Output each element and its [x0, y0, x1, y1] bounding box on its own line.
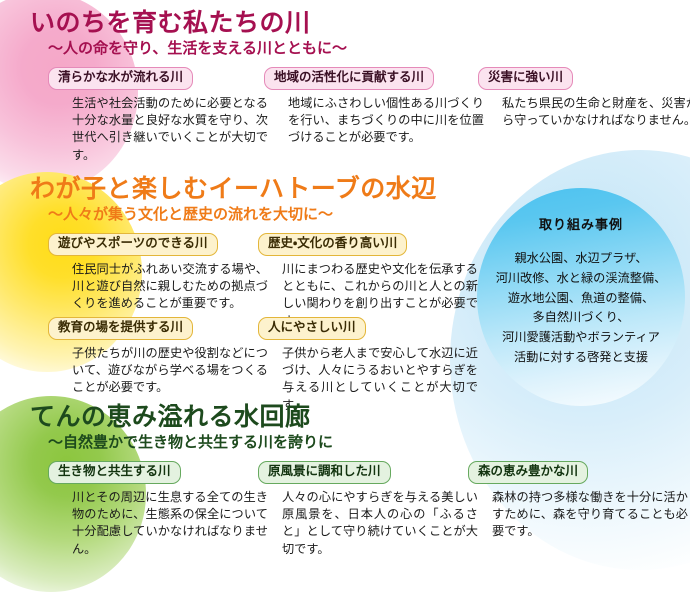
case-studies-line: 多自然川づくり、: [496, 308, 667, 328]
case-studies-line: 河川愛護活動やボランティア: [496, 328, 667, 348]
section-life-subtitle: 〜人の命を守り、生活を支える川とともに〜: [48, 41, 690, 58]
section-life: いのちを育む私たちの川 〜人の命を守り、生活を支える川とともに〜 清らかな水が流…: [0, 10, 690, 167]
case-studies-line: 河川改修、水と緑の渓流整備、: [496, 269, 667, 289]
item-label[interactable]: 原風景に調和した川: [258, 461, 391, 484]
item-label[interactable]: 生き物と共生する川: [48, 461, 181, 484]
case-studies-callout[interactable]: 取り組み事例 親水公園、水辺プラザ、 河川改修、水と緑の渓流整備、 遊水地公園、…: [477, 188, 685, 406]
item-clean-water[interactable]: 清らかな水が流れる川 生活や社会活動のために必要となる十分な水量と良好な水質を守…: [48, 67, 268, 164]
item-description: 生活や社会活動のために必要となる十分な水量と良好な水質を守り、次世代へ引き継いで…: [72, 95, 268, 164]
case-studies-title: 取り組み事例: [539, 214, 623, 233]
item-people-friendly[interactable]: 人にやさしい川 子供から老人まで安心して水辺に近づけ、人々にうるおいとやすらぎを…: [258, 317, 478, 414]
item-label[interactable]: 清らかな水が流れる川: [48, 67, 193, 90]
section-life-items: 清らかな水が流れる川 生活や社会活動のために必要となる十分な水量と良好な水質を守…: [0, 67, 690, 167]
item-description: 森林の持つ多様な働きを十分に活かすために、森を守り育てることも必要です。: [492, 489, 688, 541]
item-description: 私たち県民の生命と財産を、災害から守っていかなければなりません。: [502, 95, 690, 130]
item-harmonized-landscape[interactable]: 原風景に調和した川 人々の心にやすらぎを与える美しい原風景を、日本人の心の「ふる…: [258, 461, 478, 558]
case-studies-line: 遊水地公園、魚道の整備、: [496, 289, 667, 309]
item-forest-blessings[interactable]: 森の恵み豊かな川 森林の持つ多様な働きを十分に活かすために、森を守り育てることも…: [468, 461, 688, 541]
item-coexist-with-life[interactable]: 生き物と共生する川 川とその周辺に生息する全ての生き物のために、生態系の保全につ…: [48, 461, 268, 558]
item-label[interactable]: 地域の活性化に貢献する川: [264, 67, 434, 90]
section-forest-title: てんの恵み溢れる水回廊: [30, 404, 690, 431]
case-studies-list: 親水公園、水辺プラザ、 河川改修、水と緑の渓流整備、 遊水地公園、魚道の整備、 …: [496, 249, 667, 368]
case-studies-line: 親水公園、水辺プラザ、: [496, 249, 667, 269]
item-label[interactable]: 森の恵み豊かな川: [468, 461, 588, 484]
item-disaster-resilient[interactable]: 災害に強い川 私たち県民の生命と財産を、災害から守っていかなければなりません。: [478, 67, 690, 129]
item-description: 人々の心にやすらぎを与える美しい原風景を、日本人の心の「ふるさと」として守り続け…: [282, 489, 478, 558]
item-description: 子供たちが川の歴史や役割などについて、遊びながら学べる場をつくることが必要です。: [72, 345, 268, 397]
item-label[interactable]: 災害に強い川: [478, 67, 573, 90]
item-label[interactable]: 遊びやスポーツのできる川: [48, 233, 218, 256]
item-history-and-culture[interactable]: 歴史・文化の香り高い川 川にまつわる歴史や文化を伝承するとともに、これからの川と…: [258, 233, 478, 330]
item-label[interactable]: 歴史・文化の香り高い川: [258, 233, 407, 256]
section-forest-items: 生き物と共生する川 川とその周辺に生息する全ての生き物のために、生態系の保全につ…: [0, 461, 690, 561]
item-label[interactable]: 教育の場を提供する川: [48, 317, 193, 340]
item-label[interactable]: 人にやさしい川: [258, 317, 366, 340]
section-life-header: いのちを育む私たちの川 〜人の命を守り、生活を支える川とともに〜: [0, 10, 690, 57]
item-education-place[interactable]: 教育の場を提供する川 子供たちが川の歴史や役割などについて、遊びながら学べる場を…: [48, 317, 268, 397]
item-description: 地域にふさわしい個性ある川づくりを行い、まちづくりの中に川を位置づけることが必要…: [288, 95, 484, 147]
section-forest-header: てんの恵み溢れる水回廊 〜自然豊かで生き物と共生する川を誇りに: [0, 404, 690, 451]
section-life-title: いのちを育む私たちの川: [30, 10, 690, 37]
case-studies-line: 活動に対する啓発と支援: [496, 348, 667, 368]
section-forest-subtitle: 〜自然豊かで生き物と共生する川を誇りに: [48, 435, 690, 452]
item-description: 川とその周辺に生息する全ての生き物のために、生態系の保全について十分配慮していか…: [72, 489, 268, 558]
item-play-and-sports[interactable]: 遊びやスポーツのできる川 住民同士がふれあい交流する場や、川と遊び自然に親しむた…: [48, 233, 268, 313]
section-forest: てんの恵み溢れる水回廊 〜自然豊かで生き物と共生する川を誇りに 生き物と共生する…: [0, 404, 690, 561]
item-description: 住民同士がふれあい交流する場や、川と遊び自然に親しむための拠点づくりを進めること…: [72, 261, 268, 313]
item-regional-vitalization[interactable]: 地域の活性化に貢献する川 地域にふさわしい個性ある川づくりを行い、まちづくりの中…: [264, 67, 484, 147]
